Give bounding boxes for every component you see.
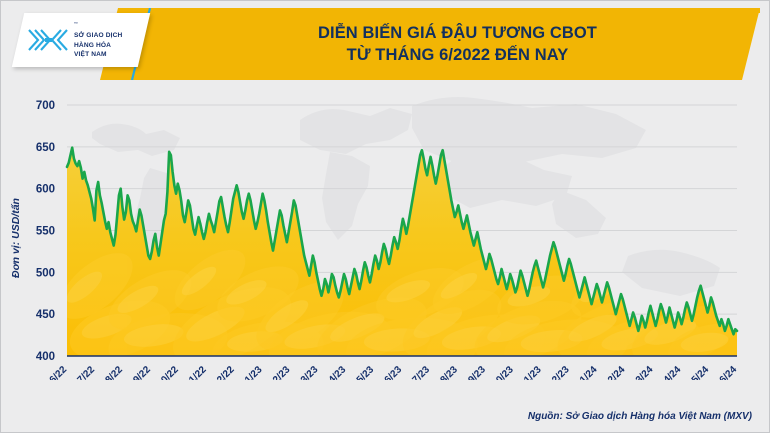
svg-text:11/22: 11/22 bbox=[184, 364, 209, 380]
price-area-chart: 700650600550500450400 6/227/228/229/2210… bbox=[0, 80, 770, 380]
brand-line-3: VIỆT NAM bbox=[74, 51, 107, 58]
svg-text:9/23: 9/23 bbox=[466, 364, 488, 380]
svg-text:7/22: 7/22 bbox=[75, 364, 97, 380]
brand-logo-text: ™ SỞ GIAO DỊCH HÀNG HÓA VIỆT NAM bbox=[74, 21, 122, 60]
svg-text:5/23: 5/23 bbox=[355, 364, 377, 380]
title-line-2: TỪ THÁNG 6/2022 ĐẾN NAY bbox=[347, 46, 569, 65]
brand-line-1: SỞ GIAO DỊCH bbox=[74, 32, 122, 39]
mxv-chevron-logo-icon bbox=[25, 25, 71, 55]
svg-text:9/22: 9/22 bbox=[131, 364, 153, 380]
page-title: DIỄN BIẾN GIÁ ĐẬU TƯƠNG CBOT TỪ THÁNG 6/… bbox=[175, 8, 740, 80]
svg-text:6/24: 6/24 bbox=[718, 364, 740, 380]
svg-text:6/22: 6/22 bbox=[48, 364, 70, 380]
svg-text:6/23: 6/23 bbox=[383, 364, 405, 380]
svg-text:10/23: 10/23 bbox=[490, 364, 516, 380]
brand-logo-card: ™ SỞ GIAO DỊCH HÀNG HÓA VIỆT NAM bbox=[12, 13, 150, 67]
svg-text:7/23: 7/23 bbox=[410, 364, 432, 380]
chart-plot-area: Đơn vị: USD/tấn 700650600550500450400 6/… bbox=[0, 80, 770, 380]
svg-text:1/24: 1/24 bbox=[578, 364, 600, 380]
source-note: Nguồn: Sở Giao dịch Hàng hóa Việt Nam (M… bbox=[528, 411, 752, 422]
svg-text:3/23: 3/23 bbox=[299, 364, 321, 380]
svg-text:650: 650 bbox=[36, 142, 55, 154]
svg-text:2/24: 2/24 bbox=[606, 364, 628, 380]
svg-text:8/23: 8/23 bbox=[438, 364, 460, 380]
svg-text:12/23: 12/23 bbox=[546, 364, 572, 380]
y-axis-tick-labels: 700650600550500450400 bbox=[36, 100, 55, 363]
svg-text:4/24: 4/24 bbox=[662, 364, 684, 380]
title-line-1: DIỄN BIẾN GIÁ ĐẬU TƯƠNG CBOT bbox=[318, 24, 597, 43]
svg-text:4/23: 4/23 bbox=[327, 364, 349, 380]
svg-text:1/23: 1/23 bbox=[243, 364, 265, 380]
header-band: ™ SỞ GIAO DỊCH HÀNG HÓA VIỆT NAM DIỄN BI… bbox=[0, 8, 770, 80]
svg-text:11/23: 11/23 bbox=[519, 364, 544, 380]
svg-text:8/22: 8/22 bbox=[103, 364, 125, 380]
svg-text:500: 500 bbox=[36, 267, 55, 279]
svg-text:550: 550 bbox=[36, 226, 55, 238]
svg-text:10/22: 10/22 bbox=[155, 364, 181, 380]
svg-text:3/24: 3/24 bbox=[634, 364, 656, 380]
x-axis-tick-labels: 6/227/228/229/2210/2211/2212/221/232/233… bbox=[48, 364, 740, 380]
svg-text:400: 400 bbox=[36, 351, 55, 363]
svg-text:5/24: 5/24 bbox=[690, 364, 712, 380]
svg-text:450: 450 bbox=[36, 309, 55, 321]
svg-text:700: 700 bbox=[36, 100, 55, 112]
svg-text:12/22: 12/22 bbox=[211, 364, 237, 380]
trademark-mark: ™ bbox=[74, 21, 78, 26]
brand-line-2: HÀNG HÓA bbox=[74, 42, 111, 49]
svg-text:2/23: 2/23 bbox=[271, 364, 293, 380]
svg-text:600: 600 bbox=[36, 184, 55, 196]
